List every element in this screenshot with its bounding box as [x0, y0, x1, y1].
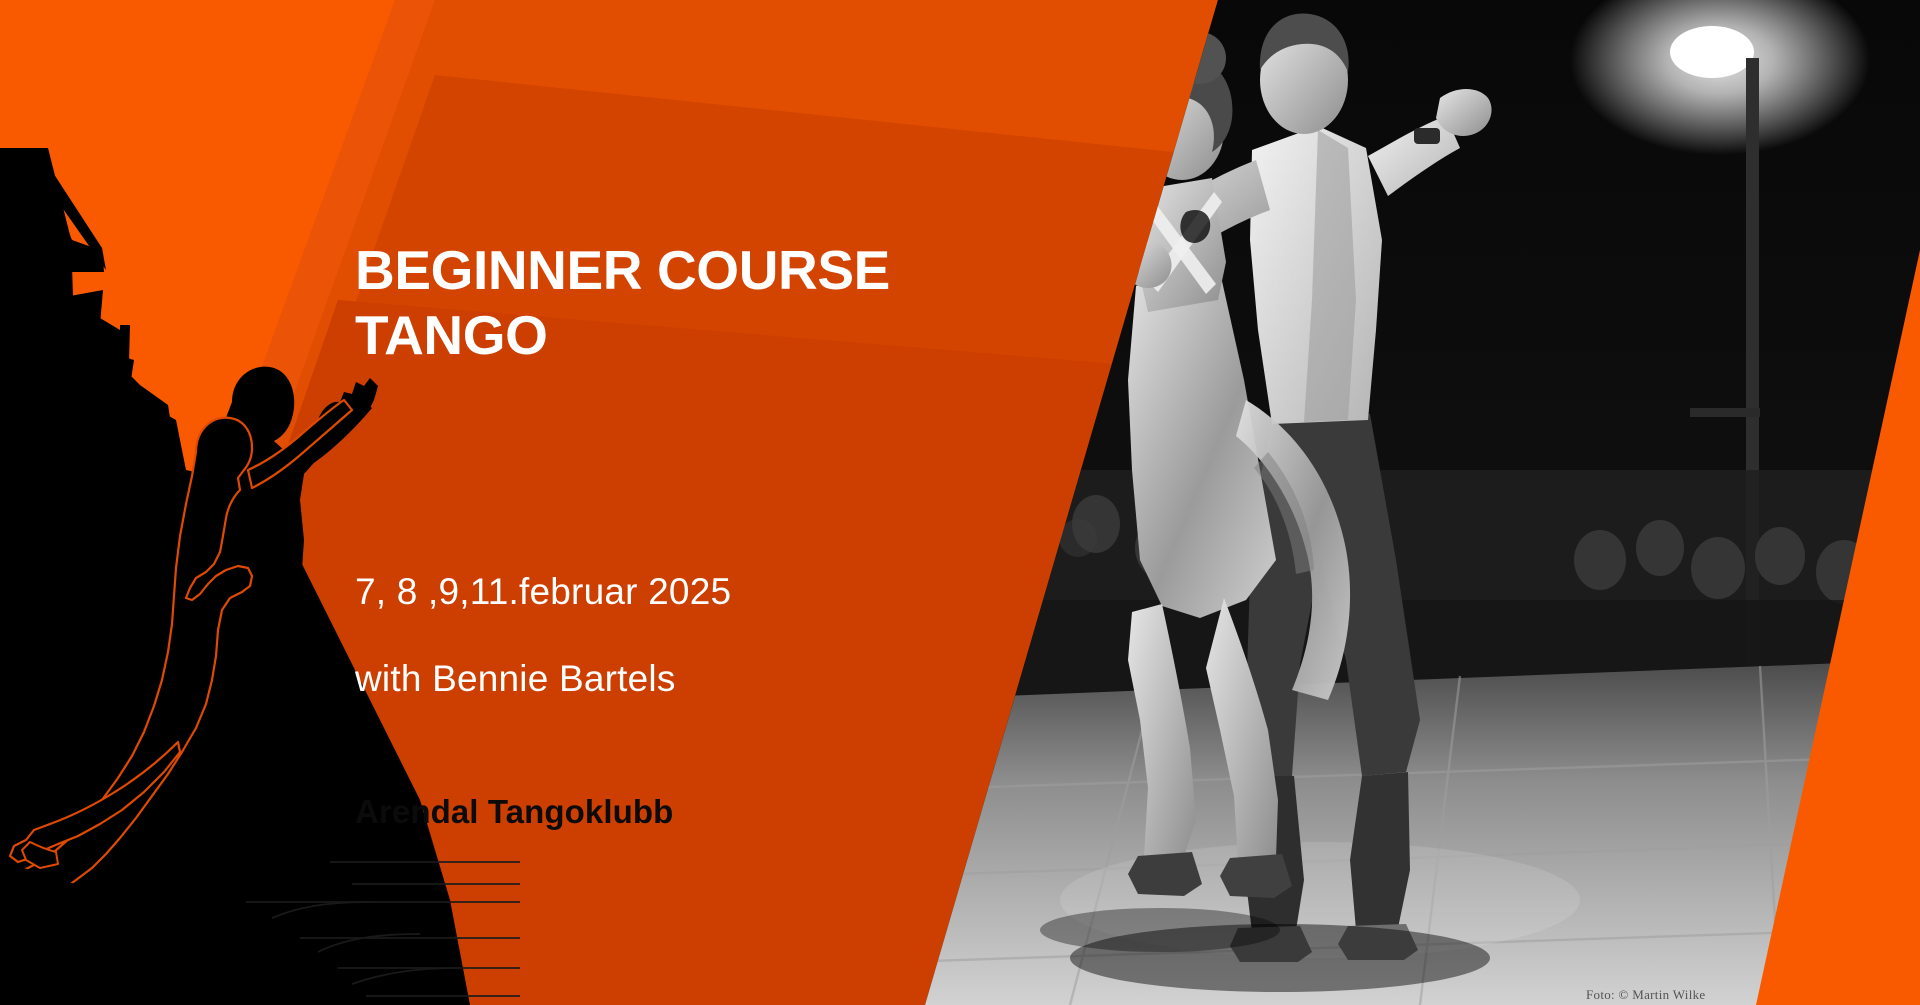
poster-canvas: BEGINNER COURSE TANGO 7, 8 ,9,11.februar… — [0, 0, 1920, 1005]
photo-credit: Foto: © Martin Wilke — [1586, 987, 1705, 1003]
organizer-name: Arendal Tangoklubb — [355, 792, 915, 832]
course-instructor: with Bennie Bartels — [355, 657, 915, 701]
page-title: BEGINNER COURSE TANGO — [355, 238, 915, 368]
female-dancer-shoe-right — [1220, 854, 1292, 898]
male-dancer-watch — [1414, 128, 1440, 144]
lamp-arm — [1690, 408, 1760, 417]
course-dates: 7, 8 ,9,11.februar 2025 — [355, 570, 915, 614]
lamp-bulb — [1670, 26, 1754, 78]
female-dancer-shoe-left — [1128, 852, 1202, 896]
dancers-floor-shadow-2 — [1040, 908, 1280, 952]
poster-text-block: BEGINNER COURSE TANGO 7, 8 ,9,11.februar… — [355, 0, 915, 1005]
